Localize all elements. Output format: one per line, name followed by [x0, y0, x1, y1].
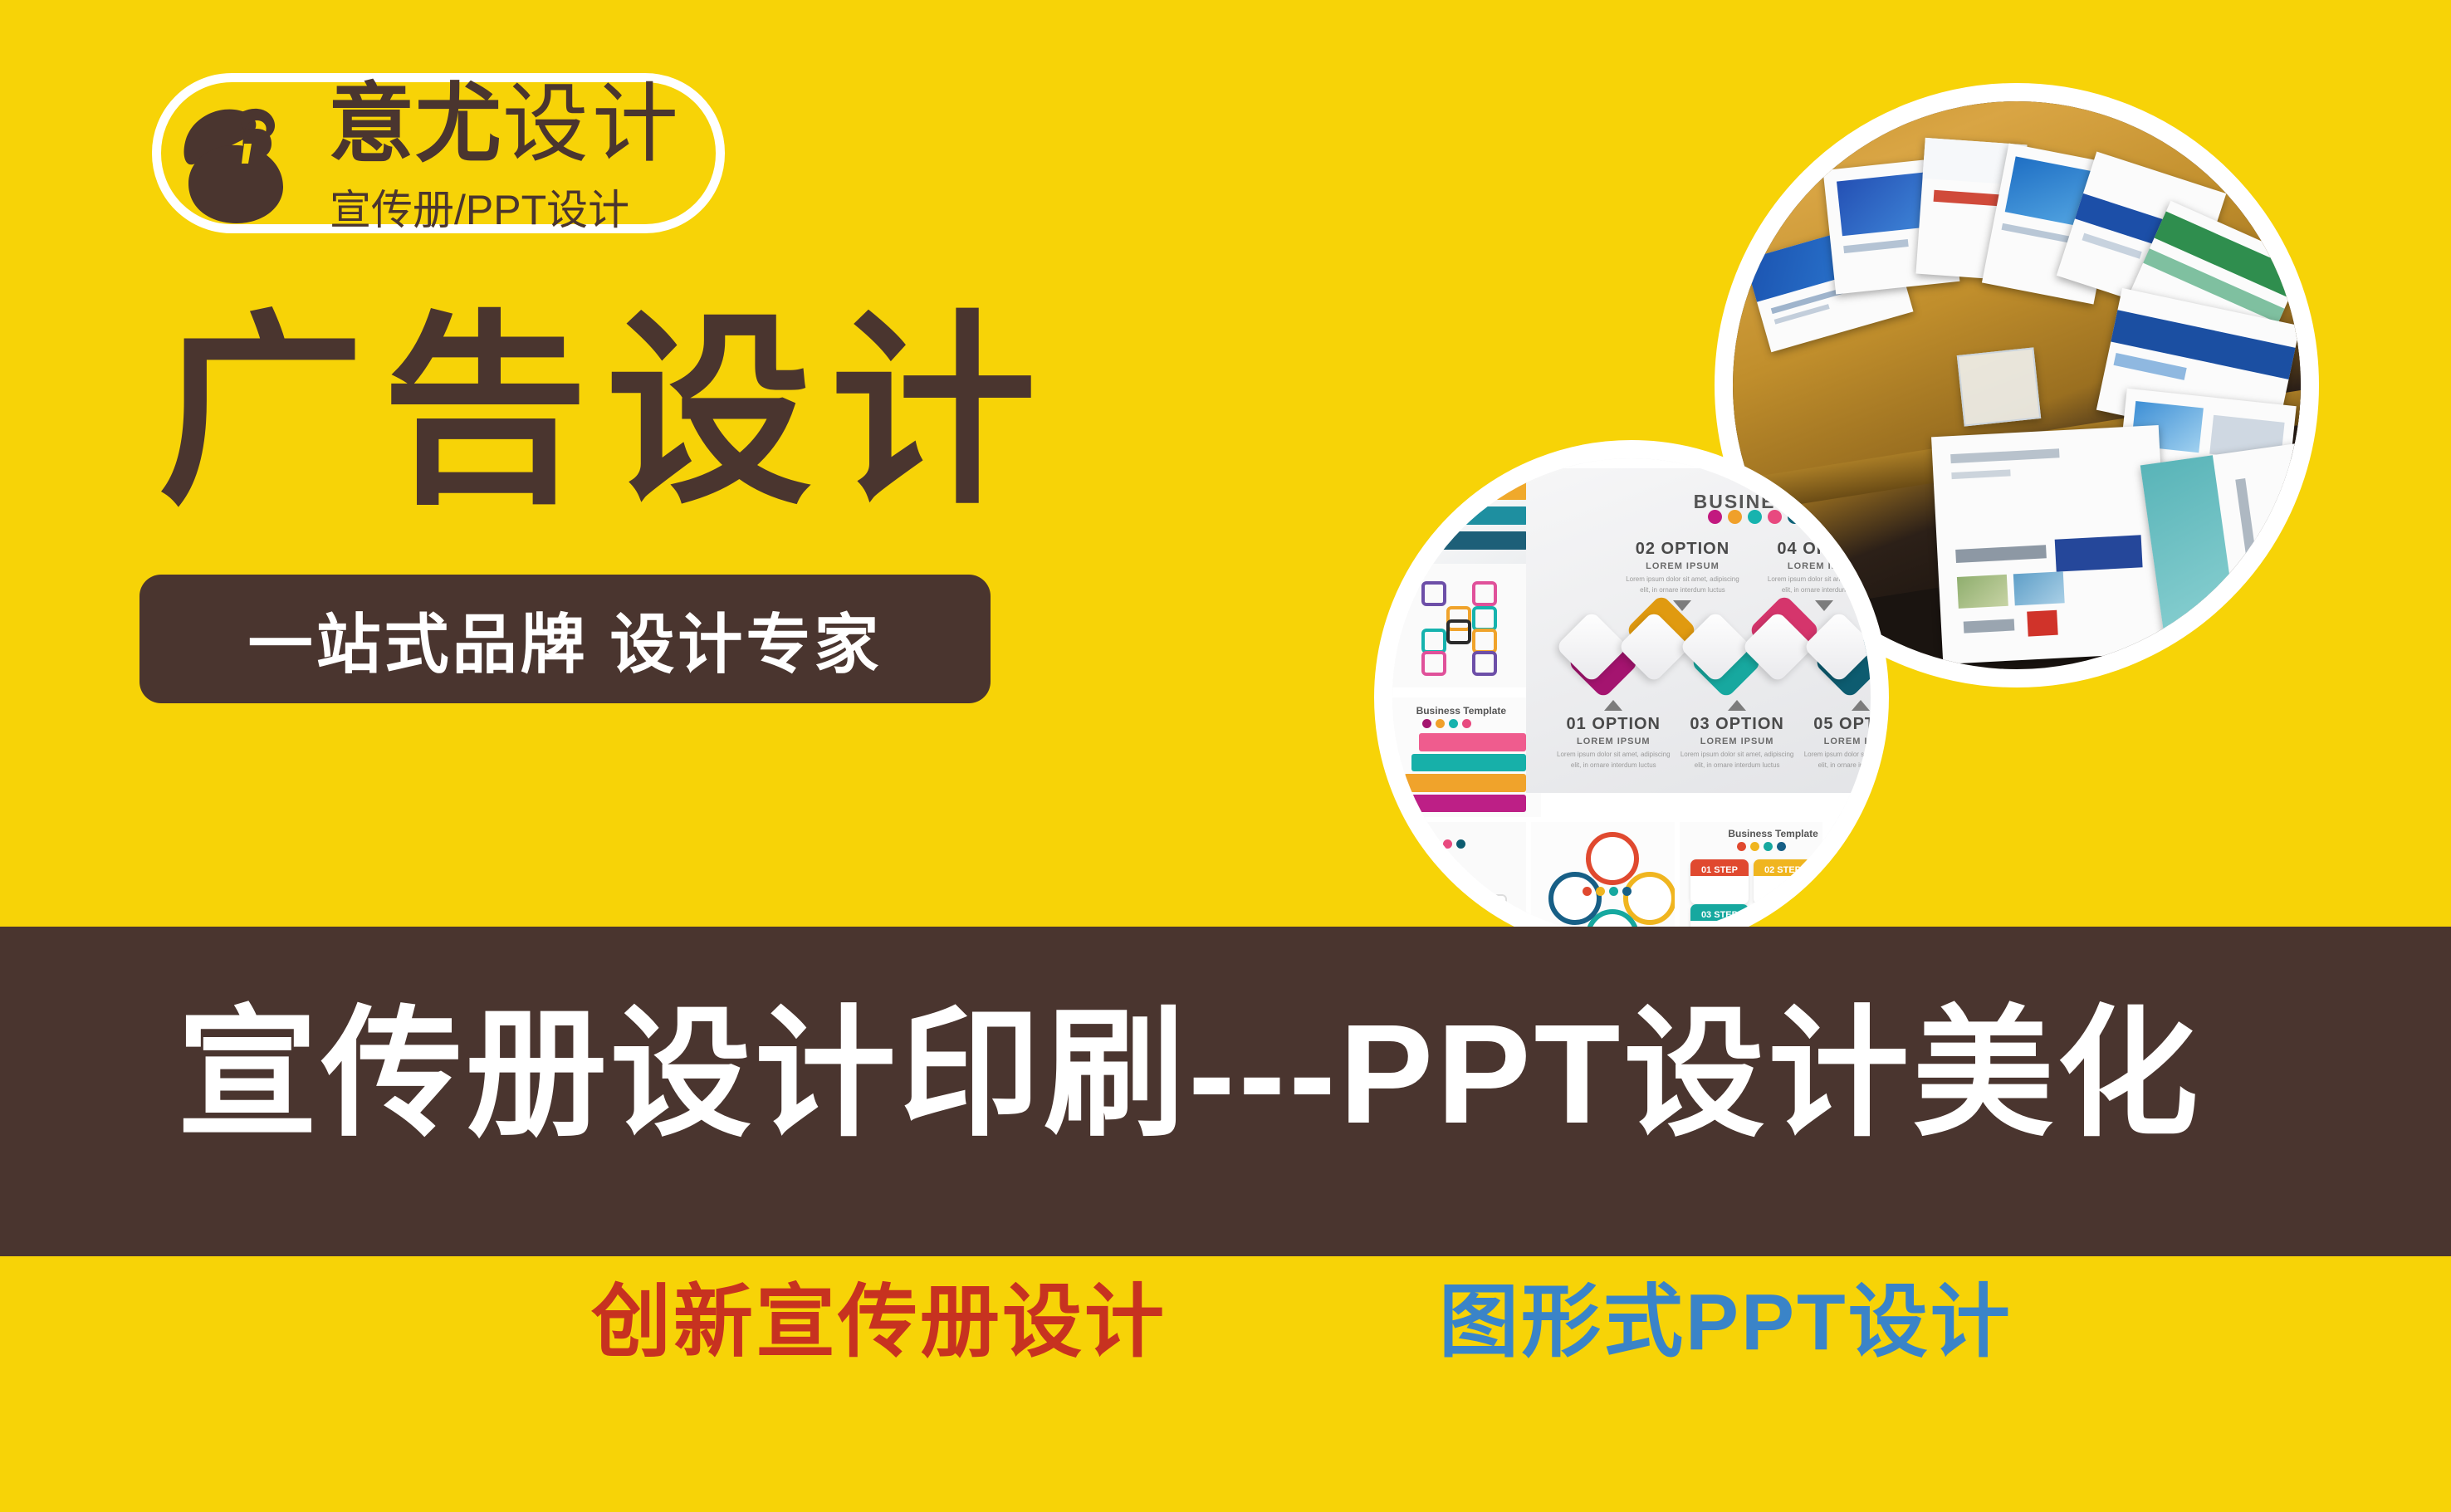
logo-text: 意尤设计 宣传册/PPT设计 — [328, 80, 718, 229]
banner-text: 宣传册设计印刷---PPT设计美化 — [177, 986, 2201, 1163]
collage-option-number: 02 OPTION — [1624, 540, 1740, 559]
brochure-item — [1931, 425, 2170, 664]
collage-option-number: 01 OPTION — [1555, 715, 1671, 734]
triangle-up-icon — [1728, 700, 1746, 711]
collage-option: 05 OPTION LOREM IPSUM Lorem ipsum dolor … — [1803, 696, 1889, 771]
ppt-template-collage: Business Template BUSINESS TEMPLATE — [1392, 458, 1871, 937]
collage-mini-title: Business Template — [1728, 828, 1817, 839]
collage-mini-dots — [1403, 839, 1465, 849]
logo-title-bold: 意尤 — [328, 76, 502, 173]
collage-option: 01 OPTION LOREM IPSUM Lorem ipsum dolor … — [1555, 696, 1671, 771]
collage-hex-node — [1586, 832, 1639, 885]
collage-step-label: 04 STEP — [1754, 904, 1811, 921]
collage-step-label: 01 STEP — [1690, 859, 1748, 876]
collage-option-label: LOREM IPSUM — [1555, 736, 1671, 746]
triangle-up-icon — [1852, 700, 1870, 711]
tagline-text: 一站式品牌 设计专家 — [248, 593, 883, 686]
page-title: 广告设计 — [158, 309, 1054, 515]
collage-option-label: LOREM IPSUM — [1679, 736, 1795, 746]
triangle-up-icon — [1604, 700, 1622, 711]
collage-mini-dots — [1583, 887, 1632, 896]
collage-step-card: 02 STEP — [1754, 859, 1811, 904]
collage-option-label: LOREM IPSUM — [1766, 561, 1882, 571]
footer-label-ppt: 图形式PPT设计 — [1439, 1283, 2013, 1363]
collage-panel-main: BUSINESS TEMPLATE 02 OPTION LOREM IPSUM … — [1526, 468, 1889, 794]
triangle-down-icon — [1815, 600, 1833, 611]
collage-step-label: 02 STEP — [1754, 859, 1811, 876]
collage-mini-title: Business Template — [1416, 705, 1506, 717]
logo-subtitle: 宣传册/PPT设计 — [330, 177, 629, 237]
collage-mini-dots — [1422, 719, 1471, 728]
collage-option-desc: Lorem ipsum dolor sit amet, adipiscing e… — [1555, 749, 1671, 771]
card-holder — [1956, 347, 2040, 426]
gourd-bird-mark-icon — [162, 77, 316, 231]
collage-option-number: 03 OPTION — [1679, 715, 1795, 734]
collage-hex-node — [1548, 872, 1602, 925]
collage-option-desc: Lorem ipsum dolor sit amet, adipiscing e… — [1766, 574, 1882, 596]
collage-option-number: 04 OPTION — [1766, 540, 1882, 559]
poster-canvas: 意尤设计 宣传册/PPT设计 广告设计 一站式品牌 设计专家 — [0, 0, 2451, 1512]
collage-step-card: 01 STEP — [1690, 859, 1748, 904]
ppt-template-collage-circle: Business Template BUSINESS TEMPLATE — [1374, 440, 1889, 955]
collage-option: 03 OPTION LOREM IPSUM Lorem ipsum dolor … — [1679, 696, 1795, 771]
collage-option-desc: Lorem ipsum dolor sit amet, adipiscing e… — [1624, 574, 1740, 596]
logo-title: 意尤设计 — [328, 76, 682, 173]
collage-panel-strips — [1402, 440, 1536, 564]
collage-option-label: LOREM IPSUM — [1624, 561, 1740, 571]
collage-option-desc: Lorem ipsum dolor sit amet, adipiscing e… — [1803, 749, 1889, 771]
collage-panel-pyramid: Business Template — [1392, 697, 1541, 817]
collage-header-dots — [1708, 510, 1802, 524]
collage-mini-dots — [1737, 842, 1786, 851]
collage-step-label: 03 STEP — [1690, 904, 1748, 921]
logo-title-thin: 设计 — [502, 76, 682, 173]
collage-option: 02 OPTION LOREM IPSUM Lorem ipsum dolor … — [1624, 540, 1740, 615]
collage-panel-cross — [1382, 564, 1531, 688]
collage-option-number: 05 OPTION — [1803, 715, 1889, 734]
footer-label-brochure: 创新宣传册设计 — [591, 1283, 1167, 1363]
collage-option-desc: Lorem ipsum dolor sit amet, adipiscing e… — [1679, 749, 1795, 771]
brochure-item — [2140, 443, 2301, 657]
tagline-pill: 一站式品牌 设计专家 — [139, 575, 991, 703]
collage-option-label: LOREM IPSUM — [1803, 736, 1889, 746]
